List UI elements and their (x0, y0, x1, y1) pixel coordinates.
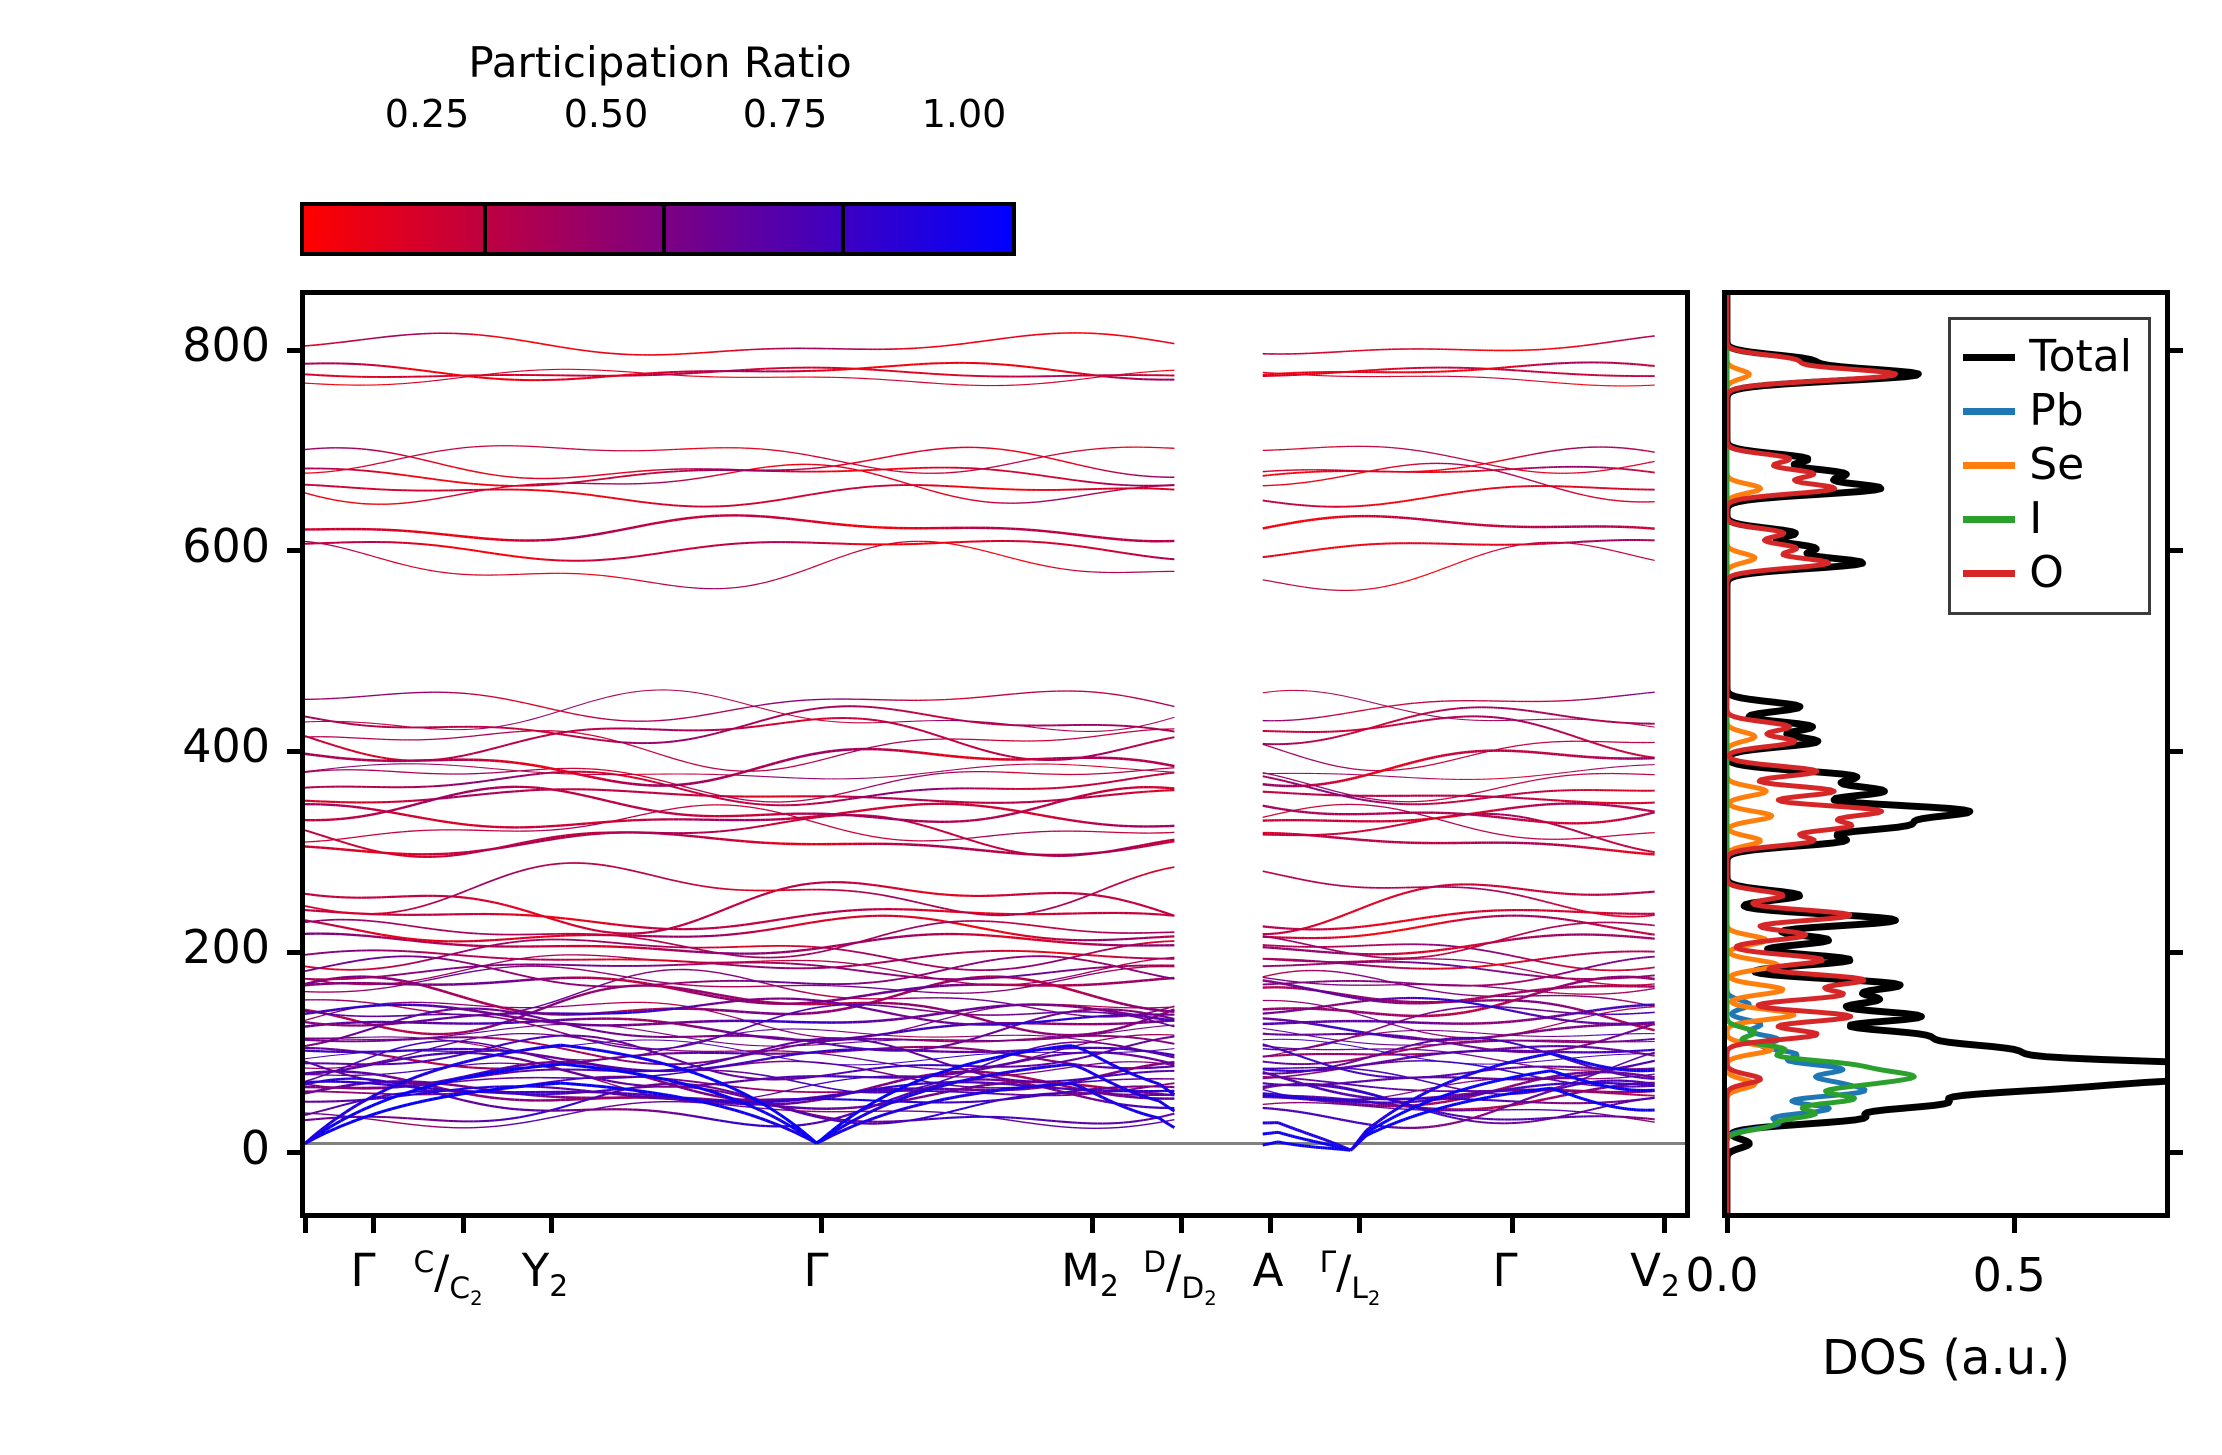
dos-y-tick (2165, 749, 2183, 754)
x-axis-tick (1662, 1213, 1667, 1233)
y-axis-tick (287, 749, 305, 754)
legend-color-swatch (1963, 408, 2015, 415)
dos-x-tick-label: 0.5 (1973, 1248, 2046, 1302)
x-axis-tick (819, 1213, 824, 1233)
x-axis-tick (461, 1213, 466, 1233)
colorbar-tick-label: 0.50 (564, 92, 649, 136)
legend-item[interactable]: Se (1963, 438, 2132, 492)
x-axis-tick (549, 1213, 554, 1233)
high-symmetry-label: Γ/L2 (1320, 1248, 1381, 1309)
high-symmetry-label: M2 (1061, 1248, 1119, 1302)
x-axis-tick (1357, 1213, 1362, 1233)
colorbar-tick (841, 206, 845, 252)
x-axis-tick (1179, 1213, 1184, 1233)
x-axis-tick (1268, 1213, 1273, 1233)
legend-label: Se (2029, 443, 2084, 487)
colorbar-title: Participation Ratio (300, 38, 1020, 87)
colorbar-tick-label: 0.25 (385, 92, 470, 136)
legend-label: Pb (2029, 389, 2083, 433)
y-axis-tick-label: 0 (110, 1121, 270, 1175)
dos-y-tick (2165, 1150, 2183, 1155)
high-symmetry-label: V2 (1630, 1248, 1680, 1302)
y-axis-tick (287, 950, 305, 955)
dos-x-tick-label: 0.0 (1685, 1248, 1758, 1302)
colorbar-gradient (304, 206, 1012, 252)
dos-y-tick (2165, 548, 2183, 553)
x-axis-tick (1510, 1213, 1515, 1233)
band-structure-curves (305, 295, 1685, 1213)
y-axis-tick-label: 200 (110, 920, 270, 974)
colorbar-tick-label: 0.75 (743, 92, 828, 136)
colorbar-tick (483, 206, 487, 252)
high-symmetry-label: Γ (1492, 1248, 1517, 1293)
x-axis-tick (1090, 1213, 1095, 1233)
y-axis-tick-label: 600 (110, 519, 270, 573)
x-axis-tick (303, 1213, 308, 1233)
colorbar (300, 202, 1016, 256)
colorbar-tick-label: 1.00 (922, 92, 1007, 136)
high-symmetry-label: D/D2 (1143, 1248, 1216, 1309)
legend-color-swatch (1963, 354, 2015, 361)
y-axis-tick (287, 348, 305, 353)
density-of-states-plot: TotalPbSeIO (1722, 290, 2170, 1218)
high-symmetry-label: Γ (350, 1248, 375, 1293)
dos-y-tick (2165, 950, 2183, 955)
high-symmetry-label: Y2 (522, 1248, 568, 1302)
y-axis-tick (287, 1150, 305, 1155)
high-symmetry-label: A (1253, 1248, 1284, 1293)
colorbar-tick-labels: 0.250.500.751.00 (300, 92, 1016, 142)
dos-series-o (1727, 295, 1896, 1213)
high-symmetry-label: Γ (803, 1248, 828, 1293)
legend-item[interactable]: Total (1963, 330, 2132, 384)
legend-item[interactable]: Pb (1963, 384, 2132, 438)
dos-x-tick (2012, 1213, 2017, 1233)
phonon-band-structure-plot (300, 290, 1690, 1218)
dos-x-tick (1725, 1213, 1730, 1233)
dos-axis-title: DOS (a.u.) (1722, 1330, 2170, 1386)
high-symmetry-label: C/C2 (413, 1248, 482, 1309)
legend-label: O (2029, 551, 2064, 595)
legend-color-swatch (1963, 516, 2015, 523)
figure-canvas: Participation Ratio 0.250.500.751.00 Fre… (0, 0, 2222, 1455)
legend-label: Total (2029, 335, 2132, 379)
x-axis-tick (371, 1213, 376, 1233)
dos-legend: TotalPbSeIO (1948, 317, 2151, 615)
legend-color-swatch (1963, 570, 2015, 577)
y-axis-tick (287, 548, 305, 553)
legend-item[interactable]: O (1963, 546, 2132, 600)
legend-label: I (2029, 497, 2042, 541)
y-axis-tick-label: 800 (110, 318, 270, 372)
y-axis-tick-label: 400 (110, 719, 270, 773)
colorbar-tick (662, 206, 666, 252)
dos-y-tick (2165, 348, 2183, 353)
legend-color-swatch (1963, 462, 2015, 469)
legend-item[interactable]: I (1963, 492, 2132, 546)
